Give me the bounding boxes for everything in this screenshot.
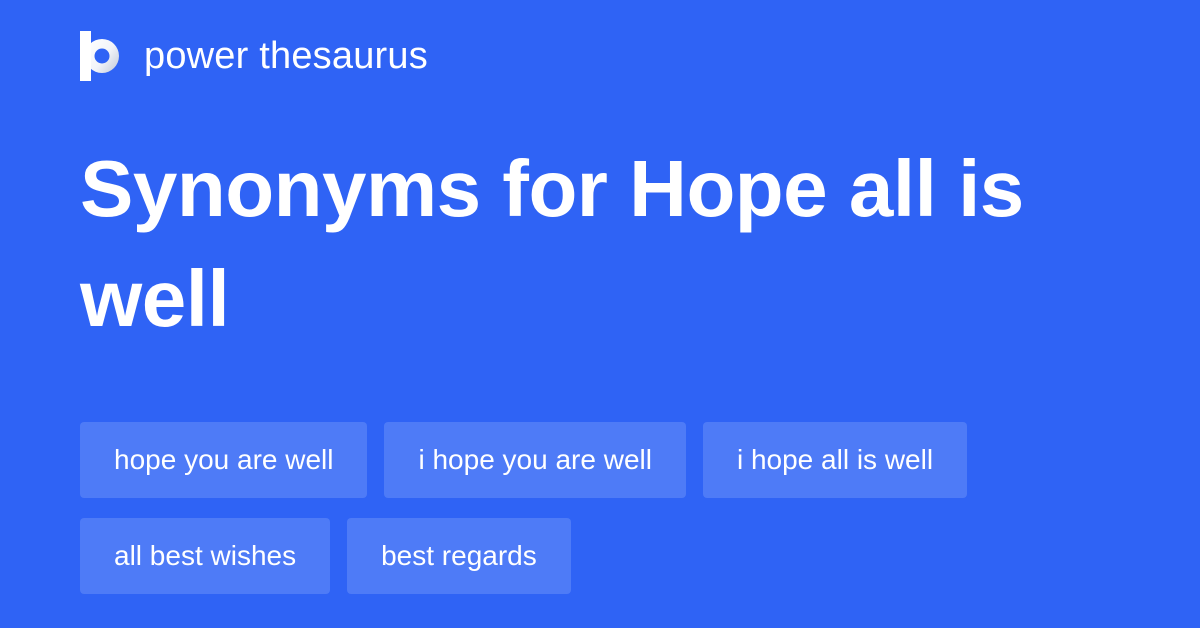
synonym-chip[interactable]: best regards <box>347 518 571 594</box>
power-thesaurus-logo-icon <box>80 31 126 81</box>
brand-name: power thesaurus <box>144 37 428 75</box>
synonym-chip[interactable]: hope you are well <box>80 422 367 498</box>
page-title: Synonyms for Hope all is well <box>80 134 1080 354</box>
synonym-chip[interactable]: i hope you are well <box>384 422 685 498</box>
synonyms-share-card: power thesaurus Synonyms for Hope all is… <box>0 0 1200 628</box>
synonym-chip[interactable]: all best wishes <box>80 518 330 594</box>
brand-header[interactable]: power thesaurus <box>80 28 428 84</box>
synonym-chip-list: hope you are well i hope you are well i … <box>80 422 1120 594</box>
synonym-chip[interactable]: i hope all is well <box>703 422 967 498</box>
